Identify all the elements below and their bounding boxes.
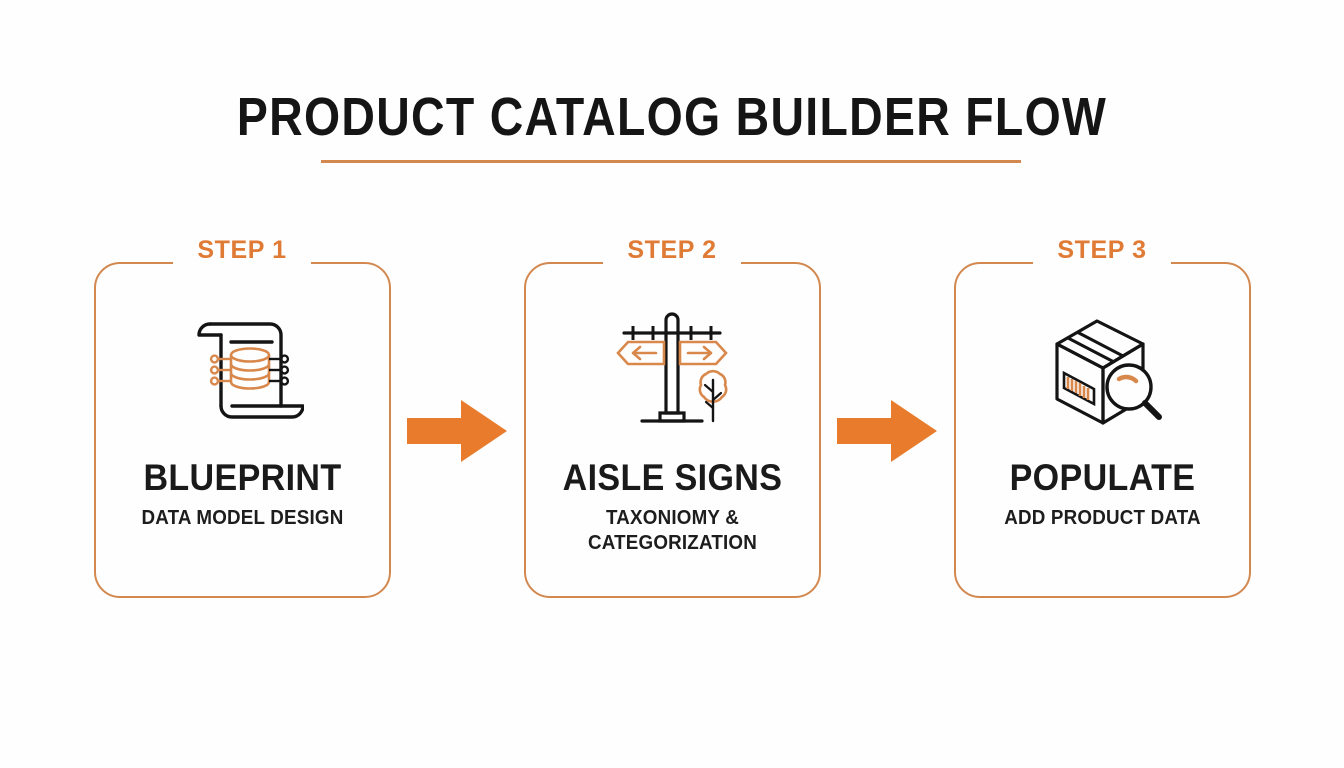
step-subtitle-1: DATA MODEL DESIGN: [114, 506, 371, 531]
signpost-icon: [606, 308, 738, 432]
step-title-1: BLUEPRINT: [116, 458, 367, 498]
step-badge-2: STEP 2: [627, 237, 716, 263]
step-text-1: BLUEPRINT DATA MODEL DESIGN: [96, 458, 389, 531]
step-text-2: AISLE SIGNS TAXONIOMY & CATEGORIZATION: [526, 458, 819, 556]
step-title-3: POPULATE: [976, 458, 1227, 498]
step-subtitle-2-line2: CATEGORIZATION: [544, 531, 801, 556]
step-subtitle-3: ADD PRODUCT DATA: [974, 506, 1231, 531]
step-subtitle-2-line1: TAXONIOMY &: [544, 506, 801, 531]
title-block: PRODUCT CATALOG BUILDER FLOW: [0, 88, 1344, 146]
scroll-database-icon: [180, 308, 304, 432]
step-badge-1: STEP 1: [197, 237, 286, 263]
arrow-right-icon-1: [391, 262, 524, 598]
flow-steps-row: STEP 1: [0, 262, 1344, 612]
arrow-right-icon-2: [821, 262, 954, 598]
title-underline: [321, 160, 1021, 163]
step-title-2: AISLE SIGNS: [546, 458, 797, 498]
step-text-3: POPULATE ADD PRODUCT DATA: [956, 458, 1249, 531]
box-magnifier-icon: [1037, 308, 1167, 432]
step-card-2[interactable]: STEP 2: [524, 262, 821, 598]
step-subtitle-2: TAXONIOMY & CATEGORIZATION: [544, 506, 801, 556]
step-card-3[interactable]: STEP 3: [954, 262, 1251, 598]
step-badge-3: STEP 3: [1057, 237, 1146, 263]
page-title: PRODUCT CATALOG BUILDER FLOW: [94, 88, 1250, 146]
step-card-1[interactable]: STEP 1: [94, 262, 391, 598]
